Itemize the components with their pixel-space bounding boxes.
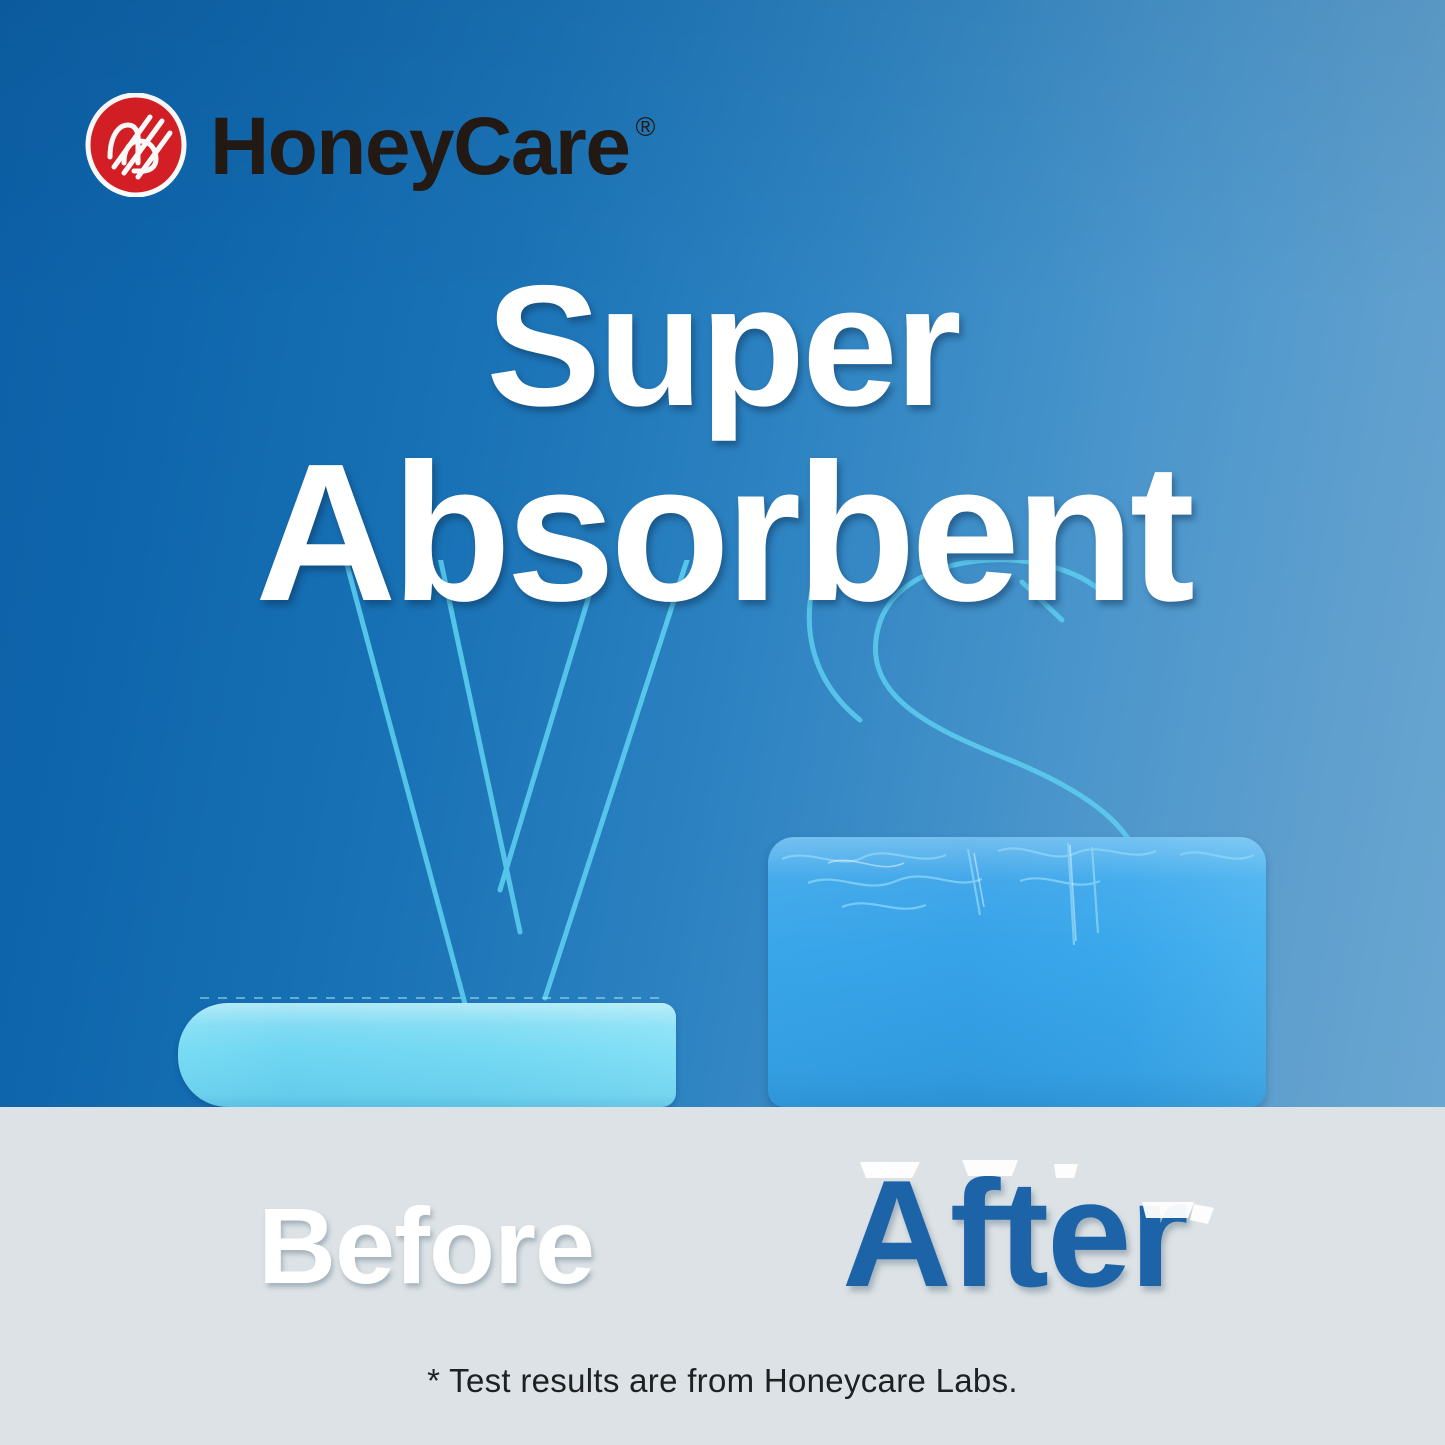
after-label: After xyxy=(842,1158,1187,1310)
brand-name-text: HoneyCare xyxy=(210,101,629,192)
headline-line-1: Super xyxy=(486,250,958,442)
brand-logo: HoneyCare® xyxy=(84,92,648,198)
product-marketing-poster: HoneyCare® Super Absorbent xyxy=(0,0,1445,1445)
page-title: Super Absorbent xyxy=(0,262,1445,629)
brand-wordmark: HoneyCare® xyxy=(210,106,648,188)
before-product-pad xyxy=(178,1003,676,1107)
registered-trademark-symbol: ® xyxy=(635,112,653,142)
headline-line-2: Absorbent xyxy=(0,437,1445,629)
before-pad-guideline xyxy=(200,997,662,999)
after-product-pad xyxy=(768,837,1266,1107)
footnote-text: * Test results are from Honeycare Labs. xyxy=(0,1362,1445,1400)
before-label: Before xyxy=(258,1192,594,1300)
after-pad-wrinkle-texture xyxy=(768,837,1266,957)
blue-background-panel: HoneyCare® Super Absorbent xyxy=(0,0,1445,1107)
honeycare-circular-monogram-icon xyxy=(84,93,188,197)
